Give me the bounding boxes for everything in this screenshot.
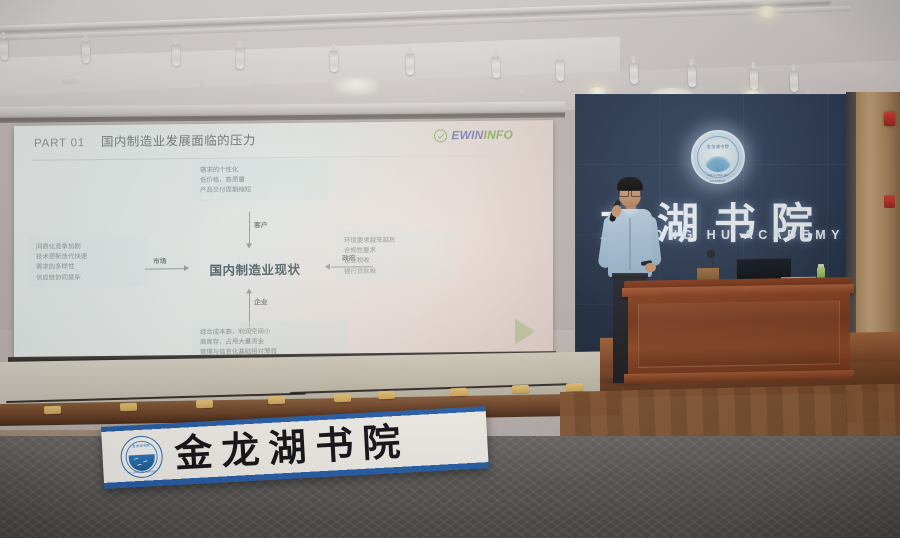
emblem-top-text: 金龙湖书院: [704, 143, 732, 150]
cable-tape: [120, 403, 137, 412]
banner-title: 金龙湖书院: [173, 413, 475, 479]
cable-tape: [512, 385, 529, 394]
cable-tape: [334, 394, 351, 403]
slide-part-label: PART 01: [34, 137, 85, 150]
ceiling-vent-icon: [62, 79, 80, 85]
arrow-shaft-left: [145, 268, 185, 270]
track-spotlight-icon: [82, 41, 91, 63]
arrow-label-market: 市场: [153, 255, 167, 265]
logo-text-primary: EWIN: [451, 128, 483, 142]
arrow-head-left: [184, 265, 189, 271]
arrow-head-top: [246, 243, 252, 248]
projection-screen: PART 01 国内制造业发展面临的压力 EWININFO 需求的个性化 低价格…: [14, 120, 553, 360]
logo-text-secondary: INFO: [484, 128, 513, 142]
presentation-slide: PART 01 国内制造业发展面临的压力 EWININFO 需求的个性化 低价格…: [14, 120, 553, 360]
track-spotlight-icon: [750, 68, 759, 90]
company-logo-text: EWININFO: [451, 128, 513, 143]
speaker-hair: [617, 177, 643, 191]
ceiling-vent-icon: [420, 86, 436, 92]
track-spotlight-icon: [406, 53, 415, 75]
cable-tape: [450, 388, 467, 397]
microphone-icon: [707, 250, 715, 258]
slide-header: PART 01 国内制造业发展面临的压力 EWININFO: [14, 120, 553, 160]
decorative-chevron-icon: [515, 318, 535, 344]
arrow-head-right: [325, 264, 330, 270]
diagram-box-market: 同质化竞争加剧 技术更新迭代快速 需求的多样性 供应链协同复杂: [28, 236, 148, 288]
track-spotlight-icon: [556, 59, 565, 81]
page-title: 国内制造业发展面临的压力: [101, 129, 256, 150]
diagram-center-node: 国内制造业现状: [190, 259, 320, 279]
cable-tape: [378, 391, 395, 400]
cable-tape: [566, 383, 583, 392]
ceiling-sprinkler-icon: [520, 86, 524, 93]
track-spotlight-icon: [688, 65, 697, 87]
arrow-shaft-top: [249, 211, 250, 245]
box-line: 产品交付周期缩短: [200, 184, 320, 196]
company-logo: EWININFO: [434, 128, 513, 143]
speaker-shirt-placket: [629, 216, 631, 270]
ceiling-vent-icon: [250, 83, 267, 89]
podium-body: [628, 292, 850, 382]
cable-tape: [196, 400, 213, 409]
track-spotlight-icon: [790, 70, 799, 92]
slide-title-group: PART 01 国内制造业发展面临的压力: [34, 129, 256, 150]
track-spotlight-icon: [172, 44, 181, 66]
arrow-head-bottom: [246, 288, 252, 293]
arrow-label-customer: 客户: [254, 219, 268, 229]
banner-logo-bottom-text: JIN LONG HU ACADEMY: [125, 470, 159, 475]
wall-sign-english: LONG HU ACADEMY: [640, 228, 900, 248]
track-spotlight-icon: [492, 56, 501, 78]
ceiling-downlight: [756, 6, 778, 18]
glasses-icon: [619, 190, 641, 195]
podium-front-panel: [638, 300, 840, 368]
cable-tape: [44, 406, 61, 415]
diagram-box-customer: 需求的个性化 低价格，高质量 产品交付周期缩短: [192, 159, 328, 201]
check-circle-icon: [434, 129, 447, 142]
arrow-label-enterprise: 企业: [254, 296, 268, 306]
fire-alarm-icon: [884, 112, 895, 126]
emblem-bottom-text: JIN LONG HU ACADEMY: [700, 172, 736, 178]
arrow-label-government: 政府: [342, 252, 356, 262]
box-line: 供应链协同复杂: [36, 271, 140, 282]
ceiling-recessed-light: [334, 78, 378, 94]
speaker-belt: [612, 273, 648, 278]
academy-emblem: 金龙湖书院 JIN LONG HU ACADEMY: [691, 130, 745, 184]
track-spotlight-icon: [0, 38, 8, 60]
track-spotlight-icon: [630, 62, 639, 84]
presentation-photo-scene: 金龙湖书院 JIN LONG HU ACADEMY 龙湖书院 LONG HU A…: [0, 0, 900, 538]
speaker-right-hand: [645, 263, 656, 272]
cable-tape: [268, 396, 285, 405]
ceiling-sprinkler-icon: [200, 80, 204, 87]
banner-logo: 金龙湖书院 JIN LONG HU ACADEMY: [120, 435, 164, 479]
track-spotlight-icon: [330, 50, 339, 72]
track-spotlight-icon: [236, 47, 245, 69]
